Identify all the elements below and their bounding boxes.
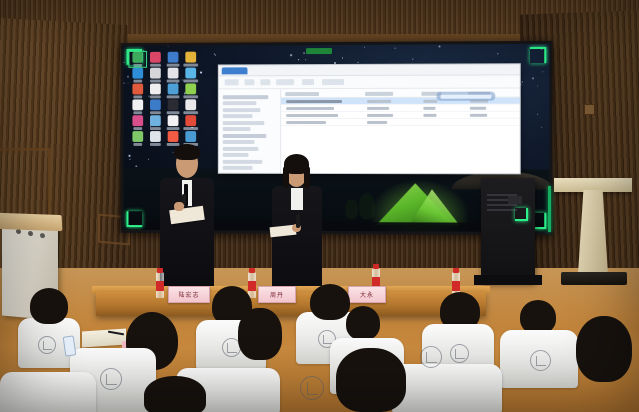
wall-outlet xyxy=(584,104,595,115)
star xyxy=(148,159,149,160)
star xyxy=(124,82,125,83)
desktop-icon-label xyxy=(133,127,142,130)
av-cabinet-base xyxy=(474,275,542,285)
icon-11-icon xyxy=(168,83,179,94)
bottle-cap xyxy=(249,268,255,273)
desktop-icon-label xyxy=(167,80,180,83)
desktop-icon[interactable] xyxy=(147,99,164,114)
desktop-icon[interactable] xyxy=(129,99,146,114)
icon-18-icon xyxy=(150,115,161,126)
wallpaper-tree xyxy=(345,199,358,219)
star xyxy=(167,46,168,47)
water-bottle-2 xyxy=(248,272,256,298)
star xyxy=(542,71,543,72)
star xyxy=(532,78,533,79)
star xyxy=(129,155,131,157)
desktop-icon[interactable] xyxy=(165,52,182,67)
star xyxy=(129,159,130,160)
desktop-icon-label xyxy=(167,111,180,114)
icon-16-icon xyxy=(185,99,196,110)
desktop-icon[interactable] xyxy=(129,68,146,83)
status-led-strip xyxy=(548,186,551,232)
star xyxy=(541,127,542,128)
presenter-male xyxy=(158,140,218,292)
star xyxy=(215,54,216,55)
marker-bottom-left xyxy=(127,211,143,227)
explorer-tab[interactable] xyxy=(222,67,248,74)
desktop-icon[interactable] xyxy=(165,115,182,130)
desktop-icon-label xyxy=(150,80,161,83)
display-osd-badge xyxy=(306,48,332,54)
star xyxy=(364,46,365,47)
placard-2: 周丹 xyxy=(258,286,296,303)
desktop-icon-label xyxy=(183,111,198,114)
star xyxy=(342,57,343,58)
desktop-icon-label xyxy=(183,79,198,82)
conference-room-photo: 陆宏志周丹大永 xyxy=(0,0,639,412)
icon-15-icon xyxy=(168,99,179,110)
icon-8-icon xyxy=(185,68,196,79)
desktop-icon[interactable] xyxy=(147,68,164,83)
placard-name-text: 大永 xyxy=(360,290,374,299)
wooden-lectern-base xyxy=(561,272,627,285)
desktop-icon[interactable] xyxy=(147,115,164,130)
star xyxy=(291,55,292,56)
av-equipment-cabinet[interactable] xyxy=(481,178,535,283)
icon-4-icon xyxy=(185,52,196,63)
icon-21-icon xyxy=(132,131,143,142)
icon-13-icon xyxy=(132,99,143,110)
marker-bottom-right xyxy=(515,208,528,221)
desktop-icon[interactable] xyxy=(129,115,146,130)
star xyxy=(303,53,304,54)
desktop-icon-label xyxy=(133,143,142,146)
desktop-icon-label xyxy=(133,95,142,98)
desktop-icon[interactable] xyxy=(165,68,182,83)
star xyxy=(394,47,396,49)
icon-17-icon xyxy=(132,115,143,126)
icon-19-icon xyxy=(168,115,179,126)
wooden-lectern-top[interactable] xyxy=(554,178,632,192)
icon-2-icon xyxy=(150,52,161,63)
desktop-icon[interactable] xyxy=(182,83,199,98)
icon-9-icon xyxy=(132,84,143,95)
star xyxy=(127,76,128,77)
desktop-icon-label xyxy=(183,64,198,67)
desktop-icon[interactable] xyxy=(182,52,199,67)
desktop-icon[interactable] xyxy=(129,131,146,146)
desktop-icon-label xyxy=(167,95,180,98)
desktop-icon-label xyxy=(150,95,161,98)
av-cabinet-panel xyxy=(508,196,522,204)
av-source-osd xyxy=(436,92,495,101)
desktop-icon-label xyxy=(133,111,142,114)
desktop-icon[interactable] xyxy=(182,99,199,114)
icon-20-icon xyxy=(185,115,196,126)
marker-top-left xyxy=(127,49,143,65)
presenter-female xyxy=(270,152,326,294)
desktop-icon-label xyxy=(150,111,161,114)
icon-14-icon xyxy=(150,99,161,110)
bottle-label xyxy=(248,281,256,291)
star xyxy=(200,71,202,73)
star xyxy=(521,82,522,83)
placard-name-text: 陆宏志 xyxy=(178,290,199,299)
desktop-icon-label xyxy=(150,127,161,130)
star xyxy=(412,59,413,60)
star xyxy=(497,53,498,54)
open-notebook xyxy=(82,328,126,347)
desktop-icon-label xyxy=(150,64,161,67)
marker-top-right xyxy=(530,47,546,63)
water-bottle-1 xyxy=(156,272,164,298)
desktop-icon[interactable] xyxy=(165,99,182,114)
placard-1: 陆宏志 xyxy=(168,286,210,303)
bottle-cap xyxy=(157,268,163,273)
desktop-icon[interactable] xyxy=(147,84,164,99)
lectern-worktop xyxy=(0,213,62,231)
bottle-label xyxy=(452,281,460,291)
desktop-icon[interactable] xyxy=(182,115,199,130)
desktop-icon-label xyxy=(183,95,198,98)
placard-3: 大永 xyxy=(348,286,386,303)
desktop-icon[interactable] xyxy=(165,83,182,98)
bottle-label xyxy=(156,281,164,291)
icon-3-icon xyxy=(168,52,179,63)
icon-5-icon xyxy=(132,68,143,79)
ribbon-toolbar[interactable] xyxy=(219,75,520,89)
bottle-cap xyxy=(373,264,379,269)
desktop-icon[interactable] xyxy=(147,52,164,67)
icon-6-icon xyxy=(150,68,161,79)
desktop-icon-label xyxy=(167,127,180,130)
placard-name-text: 周丹 xyxy=(270,290,284,299)
table-row[interactable] xyxy=(281,119,520,126)
desktop-icon-label xyxy=(167,64,180,67)
icon-7-icon xyxy=(168,68,179,79)
icon-12-icon xyxy=(185,83,196,94)
star xyxy=(537,114,538,115)
star xyxy=(136,165,137,166)
desktop-icon-label xyxy=(133,80,142,83)
bottle-cap xyxy=(453,268,459,273)
file-explorer-window[interactable] xyxy=(218,63,521,174)
desktop-icon[interactable] xyxy=(129,84,146,99)
icon-10-icon xyxy=(150,84,161,95)
star xyxy=(439,46,441,48)
desktop-icon-label xyxy=(183,127,198,130)
desktop-icon[interactable] xyxy=(182,68,199,83)
